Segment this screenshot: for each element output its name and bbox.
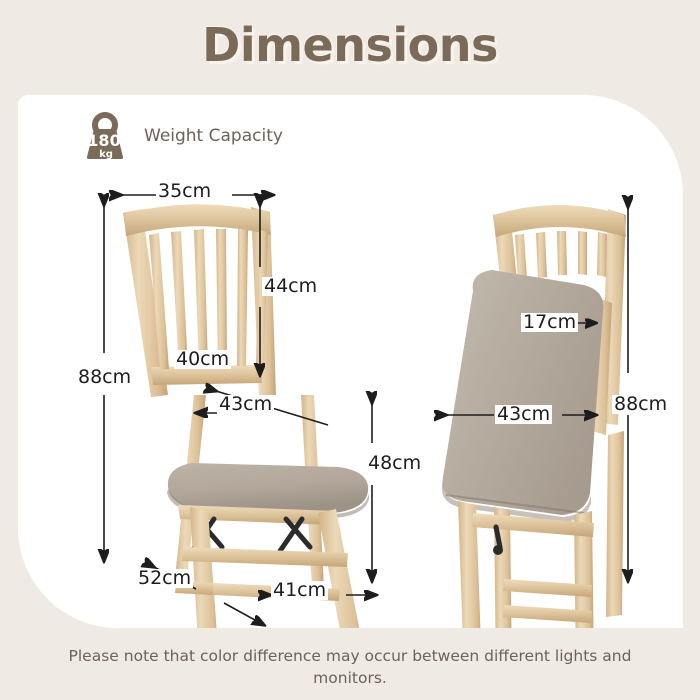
dimension-label-seat-depth: 40cm (174, 350, 231, 369)
chair-open-illustration (123, 204, 369, 628)
dimension-label-seat-width: 43cm (217, 395, 274, 414)
weight-icon: 180 kg (80, 112, 130, 160)
weight-value-text: 180 (87, 131, 120, 150)
weight-capacity-row: 180 kg Weight Capacity (80, 112, 283, 160)
dimension-label-total-height: 88cm (76, 368, 133, 387)
dimension-label-back-height: 44cm (262, 277, 319, 296)
dimension-label-top-width: 35cm (156, 182, 213, 201)
color-disclaimer-line1: Please note that color difference may oc… (69, 647, 550, 665)
infographic-canvas: Dimensions (0, 0, 700, 700)
dimension-label-folded-depth: 17cm (521, 313, 578, 332)
dimension-label-folded-height: 88cm (612, 395, 669, 414)
dimension-label-folded-width: 43cm (495, 405, 552, 424)
illustration-layer (18, 95, 683, 628)
dimension-label-base-depth: 52cm (136, 569, 193, 588)
weight-capacity-label: Weight Capacity (144, 126, 283, 146)
dimension-label-seat-height: 48cm (366, 454, 423, 473)
page-title: Dimensions (0, 18, 700, 72)
dimension-label-base-width: 41cm (271, 581, 328, 600)
weight-unit-text: kg (99, 149, 113, 160)
color-disclaimer: Please note that color difference may oc… (55, 645, 645, 690)
